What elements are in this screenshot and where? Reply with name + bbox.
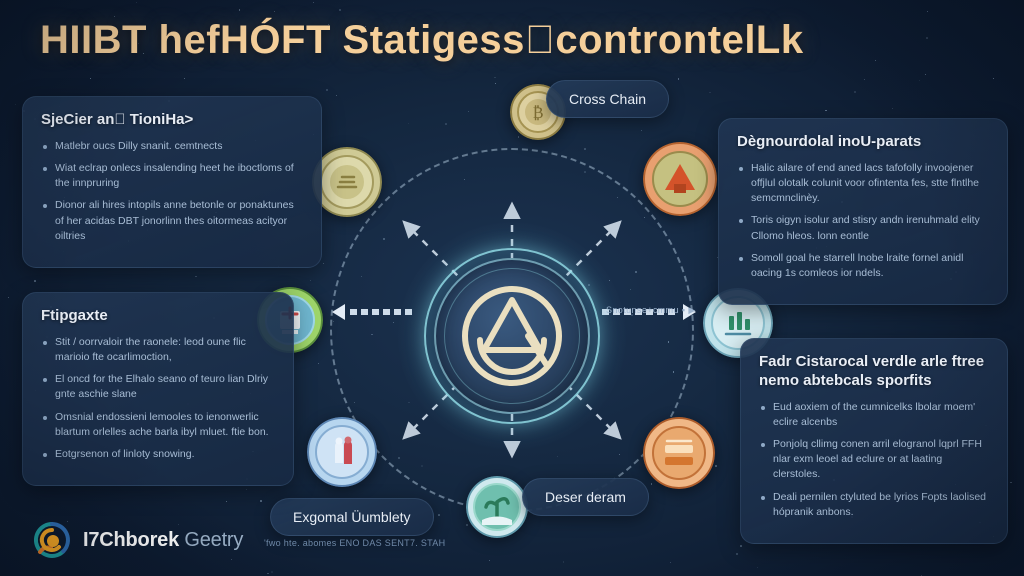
panel-bottom-left: Ftipgaxte Stit / oorrvaloir the raonele:… [22, 292, 294, 486]
center-hub[interactable] [424, 248, 600, 424]
brand-logo[interactable]: I7Chborek Geetry [32, 520, 243, 560]
page-title: HIIBT hefHÓFT Statigess controntelLk [40, 18, 980, 63]
footer-caption: 'fwo hte. abomes ENO DAS SENT7. STAH [264, 538, 564, 548]
panel-bullet-list: Eud aoxiem of the cumnicelks lbolar moem… [759, 400, 989, 521]
node-label: Exgomal Üumblety [293, 509, 411, 525]
panel-bullet: Somoll goal he starrell lnobe lraite for… [737, 251, 989, 281]
blue-figures-badge-icon [307, 417, 377, 487]
panel-bullet: El oncd for the Elhalo seano of teuro li… [41, 372, 275, 402]
brand-name-suffix: Geetry [179, 529, 243, 551]
panel-bullet-list: Matlebr oucs Dilly snanit. cemtnects Wia… [41, 139, 303, 244]
node-label-chip[interactable]: Cross Chain [546, 80, 669, 118]
panel-heading: Ftipgaxte [41, 307, 275, 326]
panel-top-left: SjeCier an  TioniHa> Matlebr oucs Dilly … [22, 96, 322, 268]
node-label: Deser deram [545, 489, 626, 505]
panel-bullet: Eotgrsenon of linloty snowing. [41, 447, 275, 462]
panel-bottom-right: Fadr Cistarocal verdle arle ftree nemo a… [740, 338, 1008, 544]
panel-bullet: Toris oigyn isolur and stisry andn irenu… [737, 213, 989, 243]
panel-bullet: Stit / oorrvaloir the raonele: leod oune… [41, 335, 275, 365]
teal-sprout-badge-icon [466, 476, 528, 538]
panel-bullet: Omsnial endossieni lemooles to ienonwerl… [41, 410, 275, 440]
panel-bullet: Matlebr oucs Dilly snanit. cemtnects [41, 139, 303, 154]
pale-gold-token-icon [312, 147, 382, 217]
panel-heading: Dègnourdolal inoU-parats [737, 133, 989, 152]
brand-name-main: I7Chborek [83, 529, 179, 551]
panel-bullet-list: Halic ailare of end aned lacs tafofolly … [737, 161, 989, 282]
panel-top-right: Dègnourdolal inoU-parats Halic ailare of… [718, 118, 1008, 305]
node-label-chip-exgomal[interactable]: Exgomal Üumblety [270, 498, 434, 536]
spiral-logo-icon [32, 520, 72, 560]
infographic-canvas: HIIBT hefHÓFT Statigess controntelLk [0, 0, 1024, 576]
panel-bullet: Deali pernilen ctyluted be lyrios Fopts … [759, 490, 989, 520]
panel-bullet: Wiat eclrap onlecs insalending heet he i… [41, 161, 303, 191]
brand-name: I7Chborek Geetry [83, 529, 243, 552]
svg-text:₿: ₿ [532, 104, 543, 122]
panel-bullet: Halic ailare of end aned lacs tafofolly … [737, 161, 989, 207]
panel-bullet: Eud aoxiem of the cumnicelks lbolar moem… [759, 400, 989, 430]
copper-scroll-badge-icon [643, 417, 715, 489]
triangle-circle-arc-emblem-icon [454, 278, 570, 394]
panel-bullet-list: Stit / oorrvaloir the raonele: leod oune… [41, 335, 275, 463]
panel-heading: SjeCier an  TioniHa> [41, 111, 303, 130]
panel-bullet: Ponjolq cllimg conen arril elogranol lqp… [759, 437, 989, 483]
node-label: Cross Chain [569, 91, 646, 107]
orange-seal-badge-icon [643, 142, 717, 216]
panel-heading: Fadr Cistarocal verdle arle ftree nemo a… [759, 353, 989, 391]
panel-bullet: Dionor ali hires intopils anne betonle o… [41, 198, 303, 244]
node-label-chip[interactable]: Deser deram [522, 478, 649, 516]
